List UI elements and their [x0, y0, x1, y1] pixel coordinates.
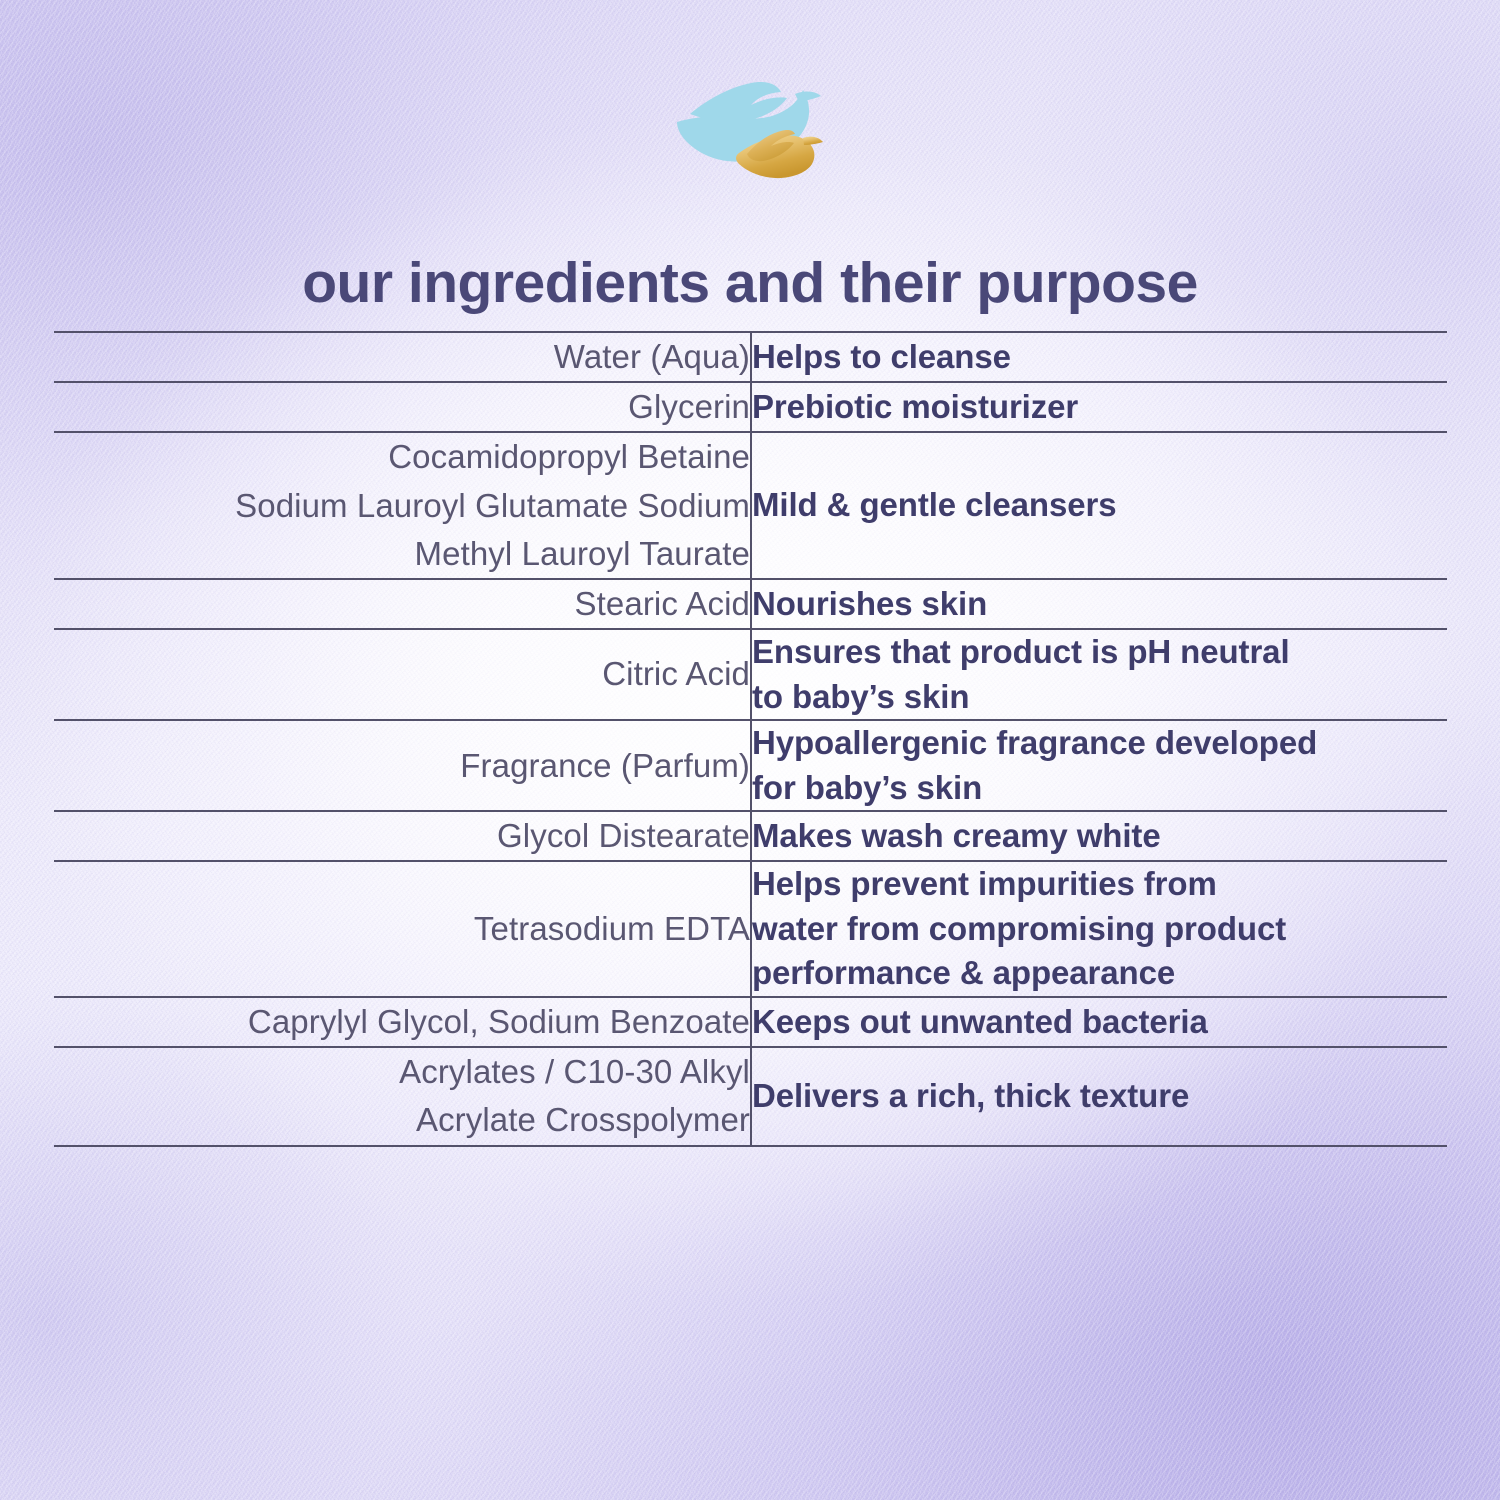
- page-title: our ingredients and their purpose: [0, 251, 1500, 316]
- dove-icon: [635, 72, 865, 182]
- table-row: Acrylates / C10-30 Alkyl Acrylate Crossp…: [54, 1047, 1447, 1145]
- table-row: Glycol Distearate Makes wash creamy whit…: [54, 811, 1447, 861]
- ingredients-infographic-page: our ingredients and their purpose Water …: [0, 0, 1500, 1500]
- ingredient-purpose: Delivers a rich, thick texture: [751, 1047, 1447, 1145]
- ingredient-purpose: Makes wash creamy white: [751, 811, 1447, 861]
- brand-logo: [0, 72, 1500, 182]
- table-row: Cocamidopropyl Betaine Sodium Lauroyl Gl…: [54, 432, 1447, 579]
- ingredient-purpose: Hypoallergenic fragrance developed for b…: [751, 720, 1447, 811]
- ingredient-purpose: Helps prevent impurities from water from…: [751, 861, 1447, 997]
- dove-upper-wing: [690, 82, 787, 122]
- ingredient-name: Glycol Distearate: [54, 811, 751, 861]
- table-row: Citric Acid Ensures that product is pH n…: [54, 629, 1447, 720]
- ingredients-table: Water (Aqua) Helps to cleanse Glycerin P…: [54, 331, 1447, 1147]
- ingredient-name: Cocamidopropyl Betaine Sodium Lauroyl Gl…: [54, 432, 751, 579]
- ingredient-purpose: Mild & gentle cleansers: [751, 432, 1447, 579]
- ingredient-purpose: Keeps out unwanted bacteria: [751, 997, 1447, 1047]
- ingredient-name: Fragrance (Parfum): [54, 720, 751, 811]
- ingredient-name: Tetrasodium EDTA: [54, 861, 751, 997]
- ingredients-table-body: Water (Aqua) Helps to cleanse Glycerin P…: [54, 332, 1447, 1146]
- table-row: Tetrasodium EDTA Helps prevent impuritie…: [54, 861, 1447, 997]
- ingredient-purpose: Ensures that product is pH neutral to ba…: [751, 629, 1447, 720]
- dove-head: [795, 92, 821, 102]
- ingredient-name: Stearic Acid: [54, 579, 751, 629]
- ingredient-purpose: Prebiotic moisturizer: [751, 382, 1447, 432]
- ingredient-purpose: Nourishes skin: [751, 579, 1447, 629]
- table-row: Caprylyl Glycol, Sodium Benzoate Keeps o…: [54, 997, 1447, 1047]
- table-row: Water (Aqua) Helps to cleanse: [54, 332, 1447, 382]
- ingredient-purpose: Helps to cleanse: [751, 332, 1447, 382]
- ingredient-name: Caprylyl Glycol, Sodium Benzoate: [54, 997, 751, 1047]
- ingredient-name: Citric Acid: [54, 629, 751, 720]
- table-row: Stearic Acid Nourishes skin: [54, 579, 1447, 629]
- ingredient-name: Acrylates / C10-30 Alkyl Acrylate Crossp…: [54, 1047, 751, 1145]
- ingredient-name: Glycerin: [54, 382, 751, 432]
- table-row: Fragrance (Parfum) Hypoallergenic fragra…: [54, 720, 1447, 811]
- baby-dove-head: [803, 137, 823, 145]
- ingredient-name: Water (Aqua): [54, 332, 751, 382]
- table-row: Glycerin Prebiotic moisturizer: [54, 382, 1447, 432]
